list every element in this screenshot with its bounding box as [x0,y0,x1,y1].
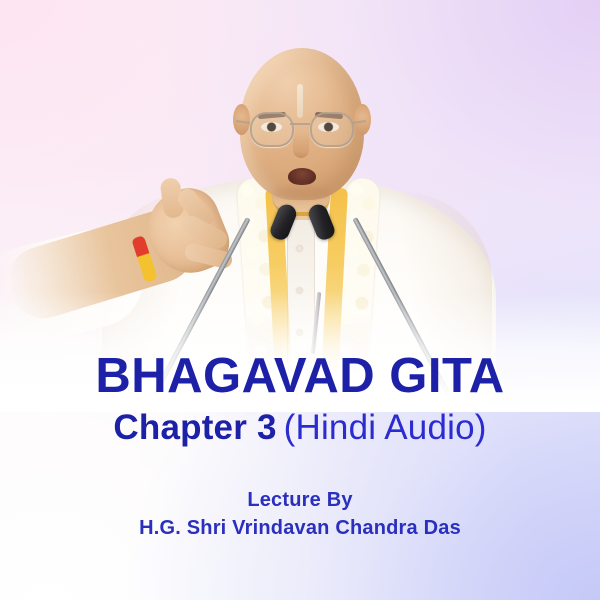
poster-canvas: BHAGAVAD GITA Chapter 3(Hindi Audio) Lec… [0,0,600,600]
kurta-button [297,288,302,293]
page-title: BHAGAVAD GITA [0,352,600,401]
kurta-button [297,246,302,251]
eyeglass-temple-right [352,120,366,124]
chin-shadow [272,186,332,200]
chapter-label: Chapter 3 [113,408,276,447]
speaker-name: H.G. Shri Vrindavan Chandra Das [0,513,600,543]
subtitle-line: Chapter 3(Hindi Audio) [0,410,600,445]
audio-language-label: (Hindi Audio) [284,408,487,447]
mouth [288,168,316,185]
nose [293,132,309,158]
eyeglass-lens-right [310,112,354,147]
kurta-button [297,330,302,335]
credit-label: Lecture By [0,488,600,513]
credit-block: Lecture By H.G. Shri Vrindavan Chandra D… [0,488,600,543]
headline-block: BHAGAVAD GITA Chapter 3(Hindi Audio) [0,352,600,445]
eyeglass-bridge [290,123,310,125]
eyeglass-lens-left [250,112,294,147]
